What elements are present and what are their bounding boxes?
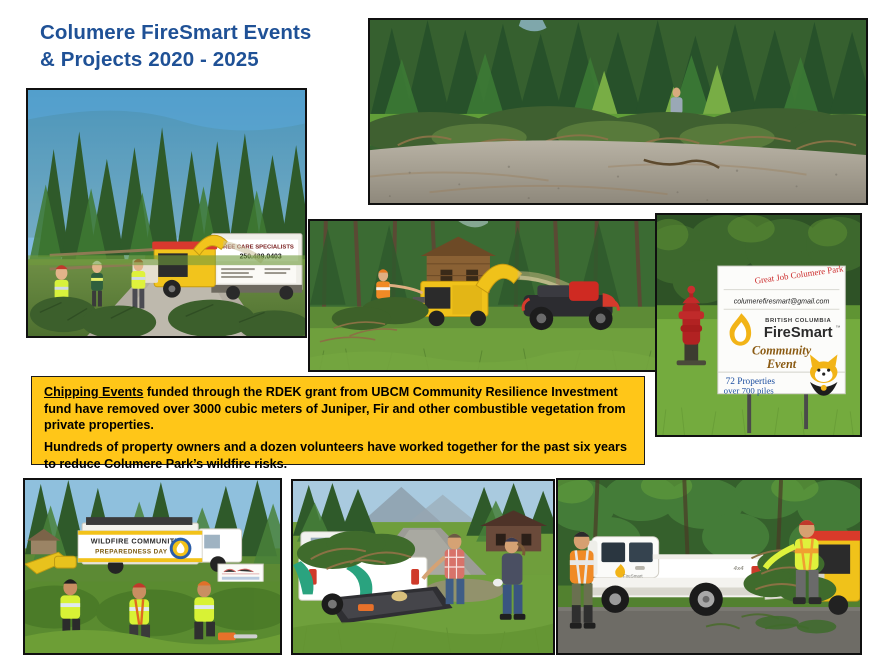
photo-pickup-unloading-chipper: FireSmart 4x4 [556,478,862,655]
callout-chipping-events: Chipping Events funded through the RDEK … [31,376,645,465]
photo-loaded-pickup-residents [291,479,555,655]
banner-line-2: PREPAREDNESS DAY [95,548,168,555]
photo-chipper-atv-forest [308,219,662,372]
callout-paragraph-2: Hundreds of property owners and a dozen … [44,439,634,472]
page-title: Columere FireSmart Events & Projects 202… [40,20,360,73]
photo-wildfire-preparedness-day-crew: WILDFIRE COMMUNITY PREPAREDNESS DAY [23,478,282,655]
page-title-line-2: & Projects 2020 - 2025 [40,47,360,74]
sign-email: columerefiresmart@gmail.com [734,298,830,305]
sign-brand-small: BRITISH COLUMBIA [765,318,831,324]
banner-line-1: WILDFIRE COMMUNITY [91,537,180,546]
firesmart-sign-board: Great Job Columere Park columerefiresmar… [718,263,845,395]
sign-brand-tm: ™ [835,325,840,331]
sign-subtitle-line-2: Event [766,357,797,371]
callout-lead-underlined: Chipping Events [44,385,143,399]
photo-chipping-crew-truck: TREE CARE SPECIALISTS 250.489.0403 [26,88,307,338]
page-title-line-1: Columere FireSmart Events [40,20,360,47]
callout-paragraph-1: Chipping Events funded through the RDEK … [44,384,634,434]
sign-handwritten-bottom-line-2: over 700 piles [724,386,775,396]
svg-text:4x4: 4x4 [733,566,745,572]
sign-subtitle-line-1: Community [752,343,812,357]
slide-canvas: Columere FireSmart Events & Projects 202… [0,0,871,670]
sign-brand-large: FireSmart [764,325,833,341]
preparedness-banner: WILDFIRE COMMUNITY PREPAREDNESS DAY [78,531,202,562]
photo-firesmart-yard-sign: Great Job Columere Park columerefiresmar… [655,213,862,437]
photo-cleared-lot-slash-piles [368,18,868,205]
